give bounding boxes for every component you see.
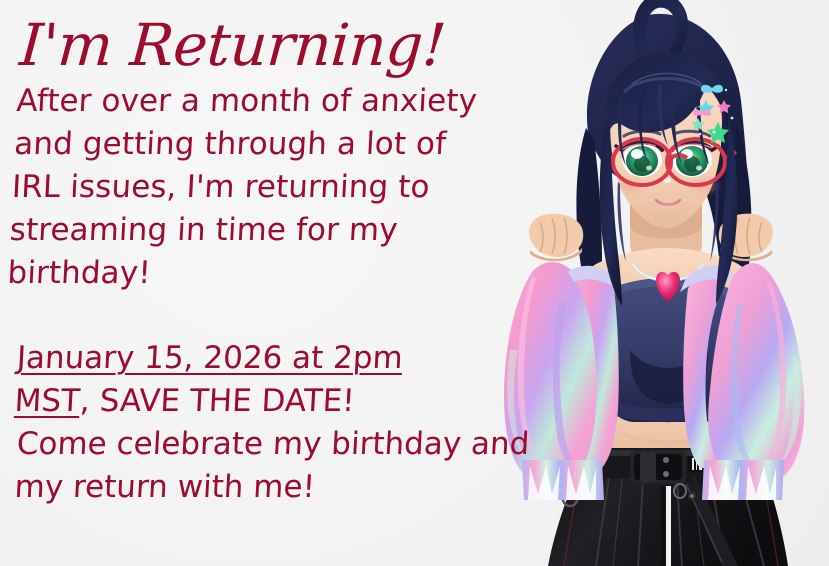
date-line-2: MST, SAVE THE DATE!: [13, 380, 560, 423]
belt-buckle: [630, 450, 686, 484]
announcement-text-block: I'm Returning! After over a month of anx…: [18, 0, 563, 509]
body-line: IRL issues, I'm returning to: [11, 166, 558, 209]
body-line: After over a month of anxiety: [15, 80, 562, 123]
timezone-underlined-text: MST: [14, 383, 81, 419]
save-the-date-text: , SAVE THE DATE!: [79, 383, 355, 419]
announcement-poster: I'm Returning! After over a month of anx…: [0, 0, 829, 566]
date-line-1: January 15, 2026 at 2pm: [16, 337, 563, 380]
paragraph-spacer: [18, 295, 563, 337]
date-underlined-text: January 15, 2026 at 2pm: [16, 340, 404, 376]
date-announcement: January 15, 2026 at 2pm MST, SAVE THE DA…: [13, 337, 563, 423]
closing-line: my return with me!: [13, 466, 560, 509]
page-title: I'm Returning!: [18, 0, 568, 74]
body-line: birthday!: [6, 252, 553, 295]
body-line: and getting through a lot of: [13, 123, 560, 166]
body-line: streaming in time for my: [9, 209, 556, 252]
body-paragraph: After over a month of anxiety and gettin…: [6, 74, 563, 295]
jacket-hem-right: [702, 460, 784, 500]
closing-paragraph: Come celebrate my birthday and my return…: [13, 423, 563, 509]
closing-line: Come celebrate my birthday and: [16, 423, 563, 466]
